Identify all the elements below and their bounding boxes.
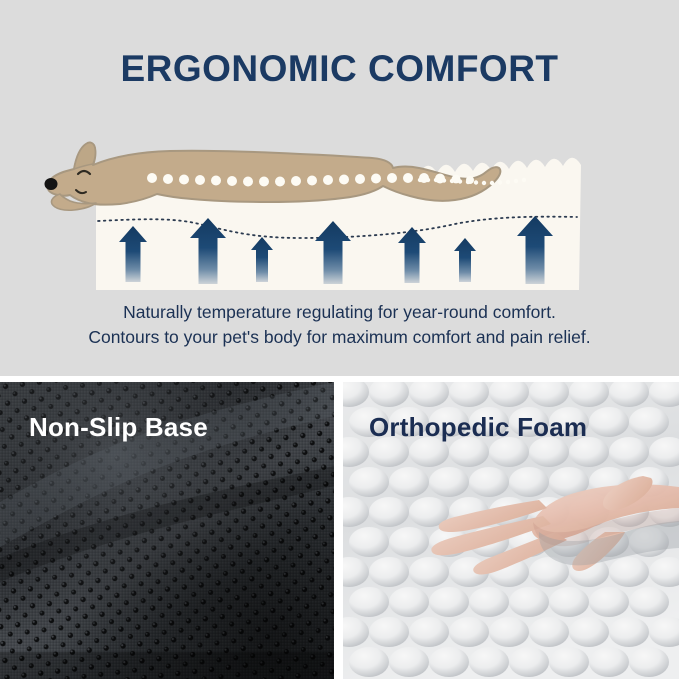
caption-line-1: Naturally temperature regulating for yea… [0,300,679,325]
dog-nose [45,178,58,190]
hero-caption: Naturally temperature regulating for yea… [0,300,679,350]
feature-panels: Non-Slip Base [0,382,679,679]
sleeping-dog-silhouette [45,143,527,211]
hero-section: ERGONOMIC COMFORT [0,0,679,376]
panel-non-slip-base: Non-Slip Base [0,382,334,679]
dog-on-memory-foam-mattress-illustration [0,110,679,290]
product-feature-infographic: ERGONOMIC COMFORT [0,0,679,679]
page-title: ERGONOMIC COMFORT [0,48,679,90]
panel-divider [334,382,343,679]
panel-label-orthopedic-foam: Orthopedic Foam [369,412,587,443]
caption-line-2: Contours to your pet's body for maximum … [0,325,679,350]
panel-label-non-slip-base: Non-Slip Base [29,412,208,443]
panel-orthopedic-foam: Orthopedic Foam [343,382,679,679]
